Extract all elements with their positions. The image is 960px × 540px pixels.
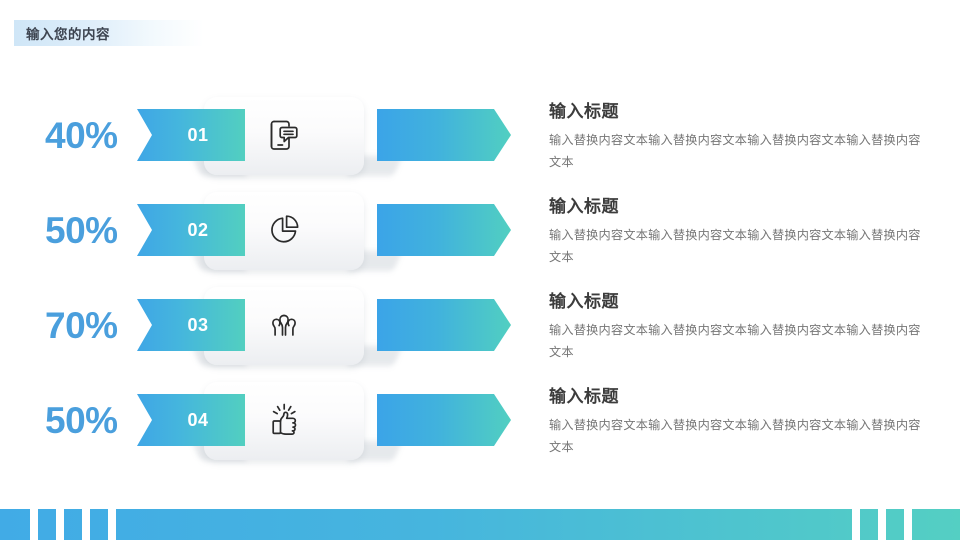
footer-notch [108, 509, 116, 540]
step-number: 03 [173, 315, 208, 336]
row-text-block: 输入标题 输入替换内容文本输入替换内容文本输入替换内容文本输入替换内容文本 [549, 290, 923, 363]
people-group-icon [262, 303, 306, 347]
step-number: 04 [173, 410, 208, 431]
progress-arrow [377, 109, 511, 161]
infographic-row: 50% 04 输入标题 输入替换内容文本输入替换内容文本输入替换内容文本输入替换… [0, 381, 960, 476]
infographic-row: 70% 03 输入标题 输入替换内容文本输入替换内容文本输入替换内容文本输入替换… [0, 286, 960, 381]
step-number: 01 [173, 125, 208, 146]
step-ribbon[interactable]: 04 [137, 394, 245, 446]
pie-chart-icon [262, 208, 306, 252]
row-title: 输入标题 [549, 100, 923, 124]
infographic-row: 50% 02 输入标题 输入替换内容文本输入替换内容文本输入替换内容文本输入替换… [0, 191, 960, 286]
row-title: 输入标题 [549, 290, 923, 314]
progress-arrow [377, 394, 511, 446]
infographic-row: 40% 01 输入标题 输入替换内容文本输入替换内容文本输入替换内容文本输入替换… [0, 96, 960, 191]
footer-notch [878, 509, 886, 540]
step-ribbon[interactable]: 01 [137, 109, 245, 161]
row-text-block: 输入标题 输入替换内容文本输入替换内容文本输入替换内容文本输入替换内容文本 [549, 195, 923, 268]
header-tab: 输入您的内容 [14, 20, 204, 46]
thumbs-up-icon [262, 398, 306, 442]
row-title: 输入标题 [549, 195, 923, 219]
row-body: 输入替换内容文本输入替换内容文本输入替换内容文本输入替换内容文本 [549, 224, 923, 268]
step-number: 02 [173, 220, 208, 241]
progress-arrow [377, 204, 511, 256]
percent-value: 50% [45, 399, 145, 443]
footer-notch [852, 509, 860, 540]
percent-value: 50% [45, 209, 145, 253]
progress-arrow [377, 299, 511, 351]
row-body: 输入替换内容文本输入替换内容文本输入替换内容文本输入替换内容文本 [549, 319, 923, 363]
step-ribbon[interactable]: 03 [137, 299, 245, 351]
infographic-rows: 40% 01 输入标题 输入替换内容文本输入替换内容文本输入替换内容文本输入替换… [0, 96, 960, 476]
footer-notch [30, 509, 38, 540]
row-text-block: 输入标题 输入替换内容文本输入替换内容文本输入替换内容文本输入替换内容文本 [549, 385, 923, 458]
footer-notch [56, 509, 64, 540]
row-title: 输入标题 [549, 385, 923, 409]
footer-bar [0, 509, 960, 540]
page-title: 输入您的内容 [14, 23, 110, 43]
step-ribbon[interactable]: 02 [137, 204, 245, 256]
footer-notch [82, 509, 90, 540]
percent-value: 70% [45, 304, 145, 348]
row-text-block: 输入标题 输入替换内容文本输入替换内容文本输入替换内容文本输入替换内容文本 [549, 100, 923, 173]
phone-chat-icon [262, 113, 306, 157]
percent-value: 40% [45, 114, 145, 158]
row-body: 输入替换内容文本输入替换内容文本输入替换内容文本输入替换内容文本 [549, 129, 923, 173]
footer-notch [904, 509, 912, 540]
row-body: 输入替换内容文本输入替换内容文本输入替换内容文本输入替换内容文本 [549, 414, 923, 458]
